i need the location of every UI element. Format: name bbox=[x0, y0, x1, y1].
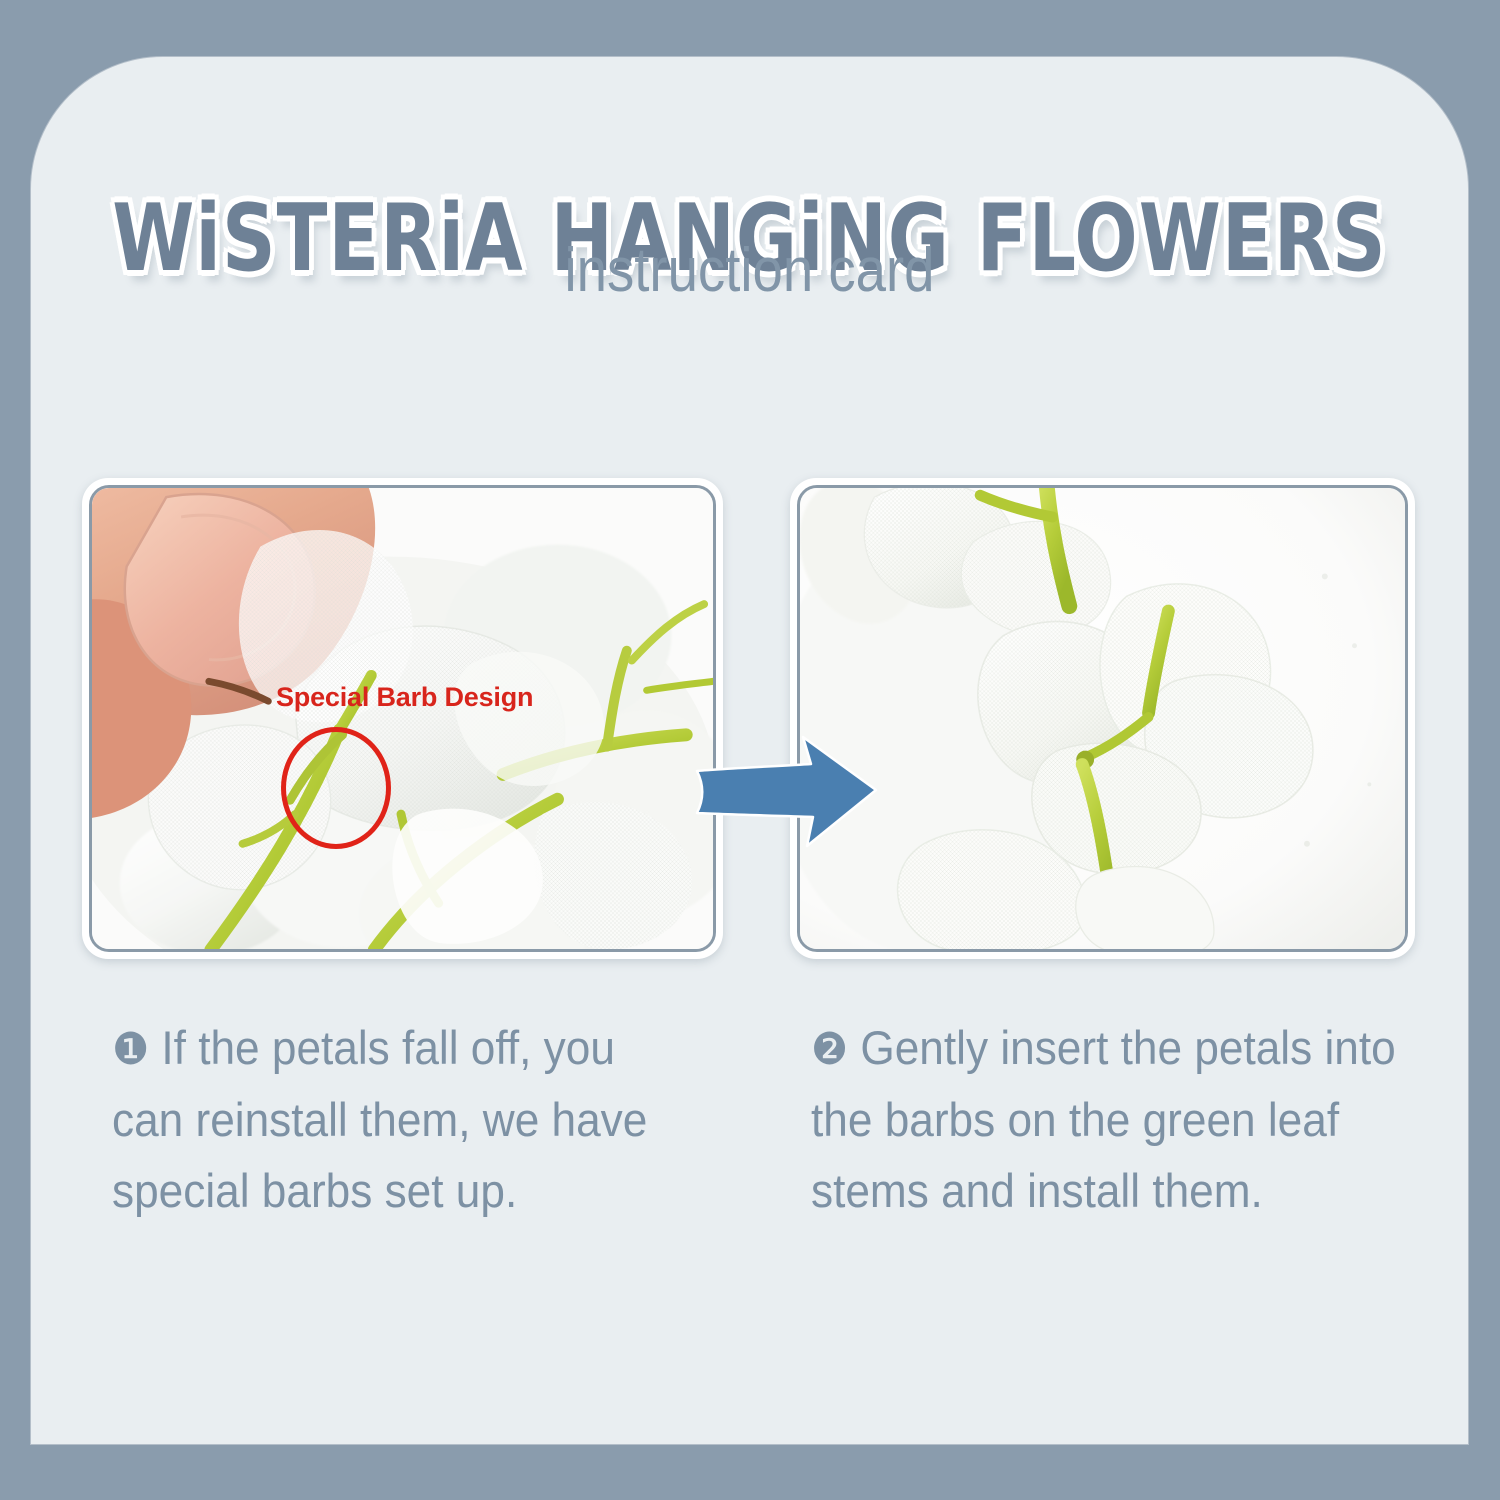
outer-border: WiSTERiA HANGiNG FLOWERS instruction car… bbox=[0, 0, 1500, 1500]
step-2-number: ❷ bbox=[811, 1024, 848, 1075]
barb-annotation-circle bbox=[281, 727, 391, 849]
page-subtitle: instruction card bbox=[117, 240, 1382, 302]
photo-image-installed-petals bbox=[800, 488, 1405, 949]
step-1-number: ❶ bbox=[112, 1024, 149, 1075]
instruction-card: WiSTERiA HANGiNG FLOWERS instruction car… bbox=[31, 57, 1468, 1444]
step-2: ❷ Gently insert the petals into the barb… bbox=[811, 1012, 1413, 1227]
photo-image-barb-design bbox=[92, 488, 713, 949]
photo-inner-border: Special Barb Design bbox=[89, 485, 716, 952]
photo-inner-border bbox=[797, 485, 1408, 952]
photo-assembled-flowers bbox=[790, 478, 1415, 959]
barb-annotation-label: Special Barb Design bbox=[276, 682, 533, 713]
step-2-text: Gently insert the petals into the barbs … bbox=[811, 1021, 1396, 1217]
step-1-text: If the petals fall off, you can reinstal… bbox=[112, 1021, 647, 1217]
step-1: ❶ If the petals fall off, you can reinst… bbox=[112, 1012, 695, 1227]
photo-hand-holding-petal: Special Barb Design bbox=[82, 478, 723, 959]
